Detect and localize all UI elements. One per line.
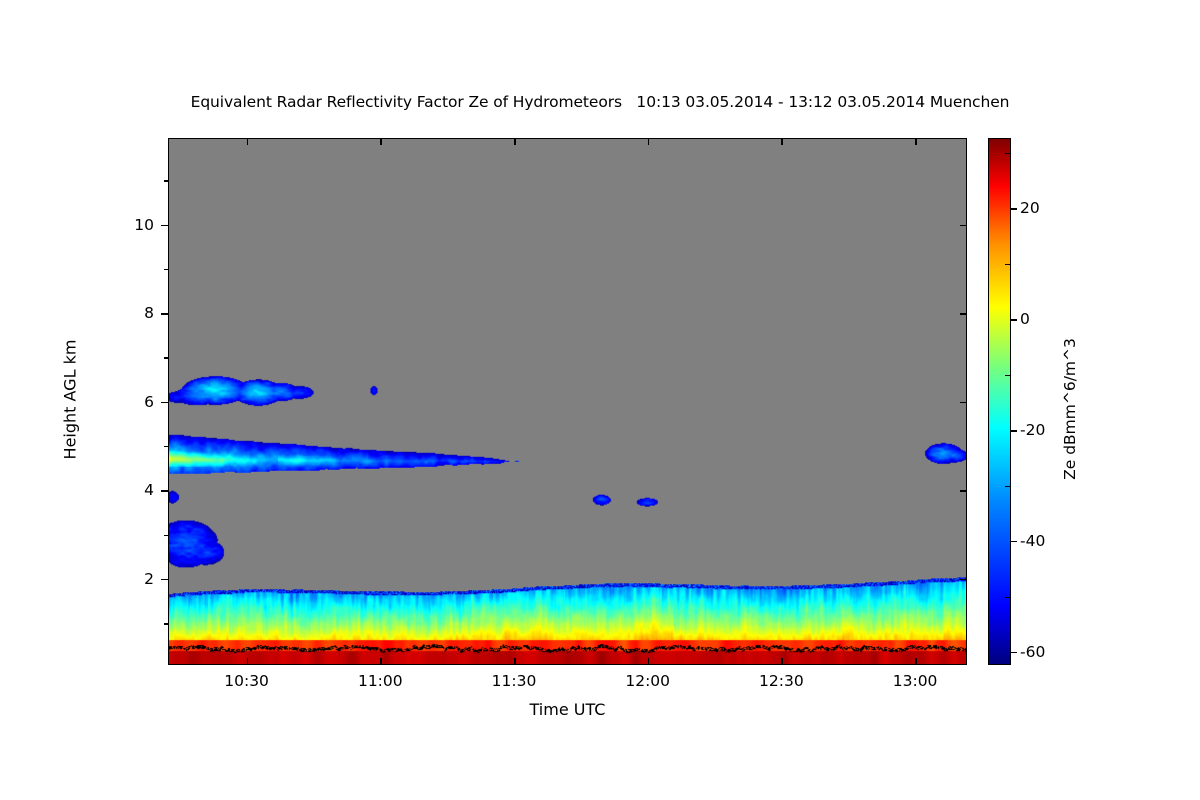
x-tick-top-1100 <box>380 138 382 145</box>
colorbar-tick-0 <box>1011 319 1017 320</box>
y-tick-minor-5 <box>164 446 168 447</box>
y-axis-label-5: 10 <box>110 216 154 234</box>
x-axis-label-2: 11:00 <box>320 672 440 690</box>
plot-area <box>168 138 967 665</box>
colorbar-label-0: 0 <box>1020 310 1030 328</box>
y-tick-8 <box>161 313 168 315</box>
x-tick-top-1130 <box>514 138 516 145</box>
y-tick-right-2 <box>960 579 967 581</box>
x-axis-label-1: 10:30 <box>187 672 307 690</box>
x-tick-top-1230 <box>781 138 783 145</box>
x-axis-label-3: 11:30 <box>454 672 574 690</box>
y-axis-label-2: 4 <box>110 481 154 499</box>
y-tick-right-10 <box>960 225 967 227</box>
colorbar-label-m40: -40 <box>1020 532 1045 550</box>
x-tick-top-1200 <box>648 138 650 145</box>
colorbar-label-m60: -60 <box>1020 643 1045 661</box>
y-tick-minor-11 <box>164 180 168 181</box>
colorbar-tick-minor-m30 <box>1005 486 1011 487</box>
y-tick-right-6 <box>960 402 967 404</box>
colorbar-label-20: 20 <box>1020 199 1040 217</box>
colorbar-tick-m20 <box>1011 430 1017 431</box>
y-axis-title: Height AGL km <box>61 270 80 530</box>
y-tick-minor-3 <box>164 535 168 536</box>
reflectivity-heatmap <box>169 139 966 664</box>
y-axis-label-3: 6 <box>110 393 154 411</box>
x-tick-top-1030 <box>247 138 249 145</box>
x-axis-label-6: 13:00 <box>855 672 975 690</box>
colorbar-tick-minor-m10 <box>1005 375 1011 376</box>
y-tick-10 <box>161 225 168 227</box>
y-tick-minor-7 <box>164 357 168 358</box>
x-tick-1230 <box>781 658 783 665</box>
x-tick-1130 <box>514 658 516 665</box>
x-axis-label-5: 12:30 <box>721 672 841 690</box>
y-axis-label-4: 8 <box>110 304 154 322</box>
x-tick-1030 <box>247 658 249 665</box>
radar-reflectivity-figure: Equivalent Radar Reflectivity Factor Ze … <box>0 0 1200 800</box>
colorbar-title: Ze dBmm^6/m^3 <box>1061 279 1079 539</box>
y-axis-label-1: 2 <box>110 570 154 588</box>
x-axis-label-4: 12:00 <box>588 672 708 690</box>
colorbar-tick-m40 <box>1011 541 1017 542</box>
x-tick-1100 <box>380 658 382 665</box>
colorbar-tick-minor-30 <box>1005 153 1011 154</box>
colorbar <box>988 138 1011 665</box>
x-tick-1300 <box>915 658 917 665</box>
colorbar-tick-minor-10 <box>1005 264 1011 265</box>
x-tick-1200 <box>648 658 650 665</box>
y-tick-minor-1 <box>164 623 168 624</box>
page-title: Equivalent Radar Reflectivity Factor Ze … <box>0 93 1200 111</box>
colorbar-tick-minor-m50 <box>1005 597 1011 598</box>
x-axis-title: Time UTC <box>168 700 967 719</box>
y-tick-6 <box>161 402 168 404</box>
colorbar-tick-m60 <box>1011 652 1017 653</box>
colorbar-tick-20 <box>1011 208 1017 209</box>
y-tick-minor-9 <box>164 269 168 270</box>
x-tick-top-1300 <box>915 138 917 145</box>
colorbar-label-m20: -20 <box>1020 421 1045 439</box>
y-tick-right-4 <box>960 490 967 492</box>
y-tick-4 <box>161 490 168 492</box>
y-tick-right-8 <box>960 313 967 315</box>
y-tick-2 <box>161 579 168 581</box>
